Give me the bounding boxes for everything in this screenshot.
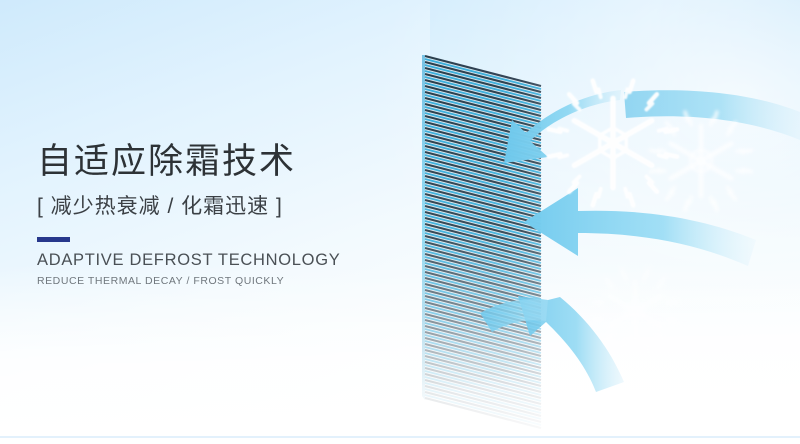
airflow-arrow-middle	[524, 188, 756, 266]
title-english: ADAPTIVE DEFROST TECHNOLOGY	[37, 250, 397, 270]
subtitle-english: REDUCE THERMAL DECAY / FROST QUICKLY	[37, 274, 397, 288]
subtitle-chinese: [ 减少热衰减 / 化霜迅速 ]	[37, 192, 397, 222]
page-title: 自适应除霜技术	[37, 140, 397, 184]
headline-block: 自适应除霜技术 [ 减少热衰减 / 化霜迅速 ] ADAPTIVE DEFROS…	[37, 140, 397, 288]
accent-divider	[37, 237, 70, 242]
snowflake-medium	[648, 109, 754, 212]
adaptive-defrost-banner: 自适应除霜技术 [ 减少热衰减 / 化霜迅速 ] ADAPTIVE DEFROS…	[0, 0, 800, 444]
defrost-illustration	[400, 0, 800, 444]
